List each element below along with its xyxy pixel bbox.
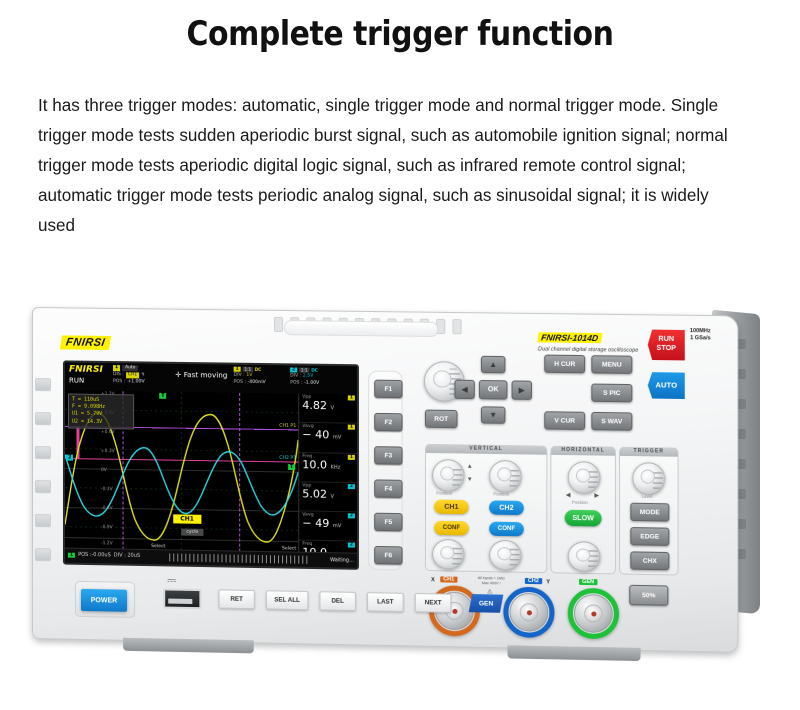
ret-button[interactable]: RET (219, 589, 255, 609)
acquisition-mode: ✛ Fast moving (175, 370, 227, 380)
ch2-div-value: 2.5V (303, 374, 314, 379)
save-wave-button[interactable]: S WAV (591, 412, 632, 431)
spec-label: 100MHz 1 GSa/s (690, 328, 711, 342)
measurement-cell[interactable]: Freq 1 10.0 KHz (299, 453, 358, 483)
device-foot-right (507, 645, 640, 661)
screen-status-bar: FNIRSI RUN 1 Auto DIS : CH1 ↯ (65, 362, 357, 394)
ch1-scale-knob[interactable] (432, 539, 465, 570)
measure-unit-3: V (331, 494, 334, 500)
ch2-status[interactable]: 2 1:1 DC DIV : 2.5V POS : -1.00V (290, 367, 343, 387)
measure-chip-0: 1 (348, 395, 355, 400)
ch2-div-label: DIV : (290, 373, 301, 378)
horizontal-group: HORIZONTAL ◀ ▶ Position SLOW (550, 446, 616, 575)
spec-samplerate: 1 GSa/s (690, 335, 711, 342)
measure-chip-5: 2 (348, 543, 355, 548)
ch2-waveform-label: CH2 P1 (279, 456, 296, 461)
trigger-position-marker[interactable]: T (159, 393, 166, 399)
brand-logo: FNIRSI (60, 335, 111, 350)
vscale-label-2: +0.6V (101, 430, 115, 435)
page-title: Complete trigger function (48, 14, 752, 54)
oscilloscope-device: FNIRSI FNIRSI-1014D Dual channel digital… (22, 303, 782, 651)
device-handle (284, 320, 438, 337)
device-foot-left (123, 638, 254, 654)
ch2-chip: 2 (290, 367, 297, 372)
arrow-up-button[interactable]: ▲ (481, 356, 505, 374)
bottom-control-strip: POWER ⎓ RET SEL ALL DEL LAST NEXT GEN (43, 566, 748, 631)
measure-unit-4: mV (333, 523, 341, 529)
horizontal-right-arrow-icon: ▶ (594, 492, 599, 499)
trigger-pos-value: +1.00V (127, 379, 144, 385)
ch1-pos-value: -400mV (248, 380, 266, 385)
usb-icon: ⎓ (167, 574, 176, 587)
auto-button[interactable]: AUTO (648, 372, 685, 399)
vscale-label-8: -1.2V (101, 541, 113, 546)
ch1-chip: 1 (234, 367, 241, 372)
vscale-label-7: -0.9V (101, 525, 113, 530)
measurement-cell[interactable]: Vpp 2 5.02 V (299, 482, 358, 512)
v-cursor-button[interactable]: V CUR (544, 411, 585, 430)
trigger-group: TRIGGER Level MODE EDGE CHX (619, 447, 679, 576)
f3-button[interactable]: F3 (374, 446, 402, 465)
cursor-measure-3: U2 = 14.3V (72, 418, 130, 426)
trigger-level-marker[interactable]: T (288, 464, 296, 470)
cycle-badge[interactable]: cycle (181, 529, 203, 536)
cursor-measurement-box: T = 110uS F = 9.098Hz U1 = 5.79V U2 = 14… (68, 393, 134, 429)
trigger-slope-icon: ↯ (141, 372, 145, 378)
trigger-chx-button[interactable]: CHX (630, 551, 669, 570)
vscale-label-6: -0.6V (101, 506, 113, 511)
screen-run-state: RUN (69, 376, 84, 384)
arrow-right-button[interactable]: ▶ (512, 380, 532, 399)
vertical-group: VERTICAL ▲ ▼ Position Position CH1 CH2 C… (425, 444, 547, 573)
usb-port[interactable] (163, 588, 201, 609)
sel-all-button[interactable]: SEL ALL (266, 590, 308, 610)
ch2-ground-marker[interactable]: 2 (66, 455, 73, 461)
acquisition-mode-label: Fast moving (184, 370, 228, 380)
measurement-cell[interactable]: Vpp 1 4.82 V (299, 394, 358, 424)
horizontal-group-title: HORIZONTAL (551, 446, 615, 456)
measure-chip-3: 2 (348, 484, 355, 489)
power-button[interactable]: POWER (81, 589, 127, 612)
measure-chip-4: 2 (348, 513, 355, 518)
ch1-selected-badge[interactable]: CH1 (173, 514, 201, 523)
ch1-down-arrow-icon: ▼ (467, 477, 473, 483)
ch2-button[interactable]: CH2 (489, 500, 524, 515)
last-button[interactable]: LAST (367, 592, 404, 612)
ch2-scale-knob[interactable] (489, 540, 522, 571)
device-side-vents (35, 378, 51, 548)
del-button[interactable]: DEL (319, 591, 355, 611)
trigger-pos-label: POS : (113, 379, 125, 385)
horizontal-position-knob[interactable] (568, 461, 601, 494)
measure-chip-2: 1 (348, 454, 355, 459)
trigger-dis-value: CH1 (126, 372, 139, 378)
ch1-position-knob[interactable] (432, 459, 465, 492)
measurement-column: Vpp 1 4.82 V Vavg 1 − 40 mV Freq 1 (298, 394, 358, 554)
trigger-mode-tag: Auto (122, 365, 138, 371)
ch1-position-label: Position (436, 490, 452, 495)
ch1-pos-label: POS : (234, 380, 246, 385)
measure-chip-1: 1 (348, 425, 355, 430)
run-stop-line1: RUN (648, 335, 685, 345)
next-button[interactable]: NEXT (415, 593, 452, 613)
f4-button[interactable]: F4 (374, 479, 402, 498)
rot-button[interactable]: ROT (425, 410, 458, 429)
footer-time-div: DIV : 20uS (114, 552, 140, 558)
trigger-mode-button[interactable]: MODE (630, 503, 669, 522)
ch1-button[interactable]: CH1 (434, 500, 469, 515)
slow-button[interactable]: SLOW (565, 510, 602, 527)
timebase-knob[interactable] (568, 541, 601, 572)
measure-value-3: 5.02 (302, 487, 327, 500)
run-stop-button[interactable]: RUN STOP (648, 330, 685, 361)
save-picture-button[interactable]: S PIC (591, 384, 632, 403)
ch2-position-label: Position (493, 491, 509, 496)
ch2-pos-label: POS : (290, 380, 302, 385)
measure-unit-0: V (331, 405, 334, 411)
measure-unit-1: mV (333, 435, 341, 441)
ch2-waveform (65, 446, 298, 519)
ch1-div-value: 1V (246, 373, 252, 378)
select-left-label[interactable]: Select (151, 544, 165, 549)
ch2-coupling: DC (311, 368, 318, 373)
ch1-coupling: DC (255, 367, 262, 372)
body-paragraph: It has three trigger modes: automatic, s… (38, 90, 742, 240)
measure-value-4: − 49 (302, 517, 329, 531)
horizontal-position-label: Position (572, 500, 588, 505)
trigger-status[interactable]: 1 Auto DIS : CH1 ↯ POS : +1.00V (113, 365, 171, 386)
body-paragraph-text: It has three trigger modes: automatic, s… (38, 90, 742, 240)
footer-channel-chip: 1 (68, 552, 75, 557)
trigger-level-label: Level (642, 494, 653, 499)
trigger-level-knob[interactable] (632, 462, 665, 495)
ch2-probe-ratio: 1:1 (299, 368, 310, 373)
f2-button[interactable]: F2 (374, 413, 402, 432)
ok-button[interactable]: OK (479, 380, 508, 400)
gen-button[interactable]: GEN (469, 594, 504, 613)
f6-button[interactable]: F6 (374, 546, 402, 565)
measure-value-1: − 40 (302, 428, 329, 441)
ch1-up-arrow-icon: ▲ (467, 464, 473, 470)
vertical-group-title: VERTICAL (426, 444, 546, 455)
trigger-edge-button[interactable]: EDGE (630, 527, 669, 546)
memory-position-ruler[interactable] (169, 553, 310, 564)
f1-button[interactable]: F1 (374, 380, 402, 399)
model-name: FNIRSI-1014D (537, 332, 602, 343)
ch1-status[interactable]: 1 1:1 DC DIV : 1V POS : -400mV (234, 367, 286, 387)
ch2-pos-value: -1.00V (304, 381, 319, 386)
function-key-column: F1 F2 F3 F4 F5 F6 (368, 370, 403, 570)
measurement-cell[interactable]: Vavg 2 − 49 mV (299, 512, 358, 542)
select-right-label[interactable]: Select (282, 546, 296, 551)
trigger-channel-chip: 1 (113, 365, 120, 371)
screen-brand: FNIRSI (69, 364, 103, 374)
ch1-probe-ratio: 1:1 (242, 367, 253, 372)
vscale-label-4: 0V (101, 468, 107, 473)
measure-unit-2: KHz (331, 464, 341, 470)
measure-value-2: 10.0 (302, 458, 327, 471)
footer-time-pos: POS :-0.00uS (78, 552, 111, 559)
vscale-label-3: +0.3V (101, 449, 115, 454)
arrow-left-button[interactable]: ◀ (454, 380, 474, 399)
waveform-plot[interactable]: T = 110uS F = 9.098Hz U1 = 5.79V U2 = 14… (65, 390, 298, 552)
ch2-position-knob[interactable] (489, 460, 522, 493)
h-cursor-button[interactable]: H CUR (544, 355, 585, 374)
ch1-div-label: DIV : (234, 373, 245, 378)
run-stop-line2: STOP (648, 344, 685, 354)
ch2-conf-button[interactable]: CONF (489, 522, 524, 537)
crosshair-icon: ✛ (175, 370, 181, 379)
device-front-shell: FNIRSI FNIRSI-1014D Dual channel digital… (32, 307, 738, 653)
measure-value-0: 4.82 (302, 399, 327, 412)
footer-status: Waiting... (330, 557, 354, 563)
cursor-u2-line (65, 459, 298, 463)
ch1-conf-button[interactable]: CONF (434, 521, 469, 536)
arrow-down-button[interactable]: ▼ (481, 406, 505, 424)
display-screen[interactable]: FNIRSI RUN 1 Auto DIS : CH1 ↯ (63, 360, 359, 569)
measurement-cell[interactable]: Vavg 1 − 40 mV (299, 423, 358, 453)
menu-button[interactable]: MENU (591, 355, 632, 374)
trigger-group-title: TRIGGER (620, 447, 678, 457)
ch1-waveform-label: CH1 P1 (279, 424, 296, 429)
horizontal-left-arrow-icon: ◀ (566, 492, 571, 499)
vscale-label-5: -0.3V (101, 487, 113, 492)
f5-button[interactable]: F5 (374, 513, 402, 532)
trigger-dis-label: DIS : (113, 372, 124, 378)
